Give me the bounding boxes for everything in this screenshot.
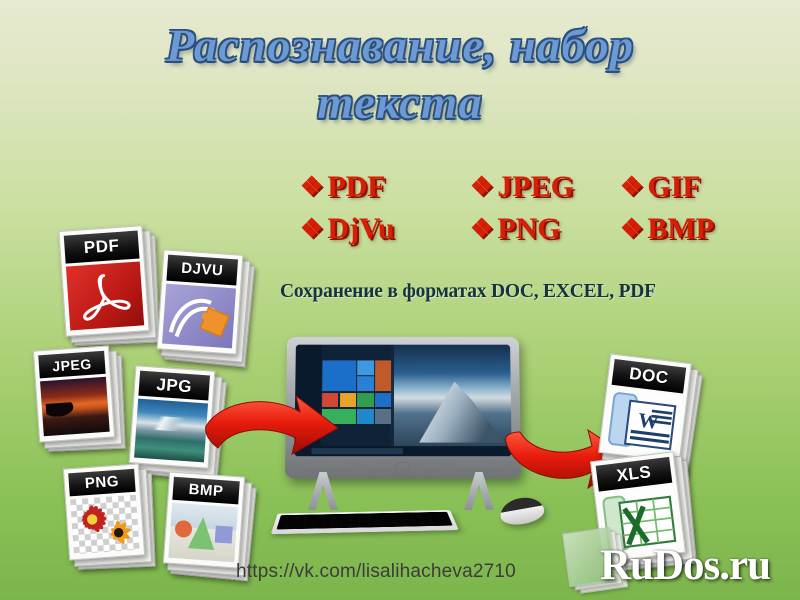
mountain-graphic [419, 378, 504, 443]
png-photo-preview [70, 495, 140, 554]
tile[interactable] [322, 360, 356, 391]
tile[interactable] [357, 376, 373, 391]
jpeg-photo-preview [40, 377, 110, 436]
page-title-line-1: Распознавание, набор [0, 18, 800, 75]
file-type-label: DJVU [166, 255, 238, 286]
format-label: PNG [497, 212, 560, 246]
format-row: ❖ DjVu ❖ PNG ❖ BMP [300, 208, 760, 250]
format-item-djvu: ❖ DjVu [300, 212, 470, 246]
site-watermark: RuDos.ru [600, 541, 770, 590]
djvu-glyph-icon [162, 283, 236, 348]
format-label: JPEG [497, 170, 574, 204]
file-card: PNG [63, 463, 145, 560]
bmp-shapes-preview [168, 503, 238, 562]
file-card: DJVU [157, 249, 244, 354]
file-icon-doc: DOC W [598, 353, 692, 462]
file-icon-djvu: DJVU [157, 249, 244, 354]
save-formats-note: Сохранение в форматах DOC, EXCEL, PDF [280, 281, 760, 303]
format-item-gif: ❖ GIF [620, 170, 760, 204]
hp-logo-icon [395, 461, 410, 476]
source-url[interactable]: https://vk.com/lisalihacheva2710 [236, 561, 516, 583]
page-title: Распознавание, набор текста [0, 18, 800, 132]
supported-formats-list: ❖ PDF ❖ JPEG ❖ GIF ❖ DjVu ❖ PNG ❖ [300, 166, 760, 250]
format-item-pdf: ❖ PDF [300, 170, 470, 204]
file-icon-jpeg: JPEG [33, 345, 115, 442]
file-type-label: PNG [68, 469, 135, 497]
format-label: BMP [647, 212, 714, 246]
diamond-bullet-icon: ❖ [470, 216, 493, 242]
poster-canvas: Распознавание, набор текста ❖ PDF ❖ JPEG… [0, 0, 800, 600]
tile[interactable] [375, 393, 391, 408]
file-type-label: PDF [64, 231, 140, 264]
tile[interactable] [340, 393, 356, 408]
file-card: DOC W [598, 353, 692, 462]
file-type-label: JPEG [38, 351, 105, 379]
tile[interactable] [375, 409, 391, 424]
format-label: GIF [647, 170, 700, 204]
arrow-input-icon [192, 388, 342, 474]
diamond-bullet-icon: ❖ [620, 174, 643, 200]
diamond-bullet-icon: ❖ [620, 216, 643, 242]
tile[interactable] [357, 393, 373, 408]
format-item-jpeg: ❖ JPEG [470, 170, 620, 204]
file-icon-pdf: PDF [58, 225, 149, 337]
3d-shapes-graphic-icon [168, 503, 238, 562]
format-item-bmp: ❖ BMP [620, 212, 760, 246]
word-logo-icon: W [604, 388, 683, 457]
keyboard-keys [276, 512, 452, 530]
file-card: BMP [163, 471, 245, 568]
diamond-bullet-icon: ❖ [300, 216, 323, 242]
file-card: JPEG [33, 345, 115, 442]
page-title-line-2: текста [0, 75, 800, 132]
flowers-graphic-icon [70, 495, 140, 554]
format-row: ❖ PDF ❖ JPEG ❖ GIF [300, 166, 760, 208]
file-icon-png: PNG [63, 463, 145, 560]
diamond-bullet-icon: ❖ [470, 174, 493, 200]
tile[interactable] [358, 360, 374, 375]
file-card: PDF [58, 225, 149, 337]
format-label: PDF [327, 170, 385, 204]
tile[interactable] [375, 360, 391, 391]
desktop-wallpaper [390, 345, 512, 457]
diamond-bullet-icon: ❖ [300, 174, 323, 200]
acrobat-logo-icon [76, 270, 133, 324]
word-preview: W [604, 388, 683, 457]
format-label: DjVu [327, 212, 394, 246]
pdf-preview [66, 261, 144, 330]
format-item-png: ❖ PNG [470, 212, 620, 246]
file-icon-bmp: BMP [163, 471, 245, 568]
djvu-preview [162, 283, 236, 348]
keyboard[interactable] [271, 510, 459, 534]
tile[interactable] [357, 409, 373, 424]
file-type-label: BMP [172, 477, 239, 505]
